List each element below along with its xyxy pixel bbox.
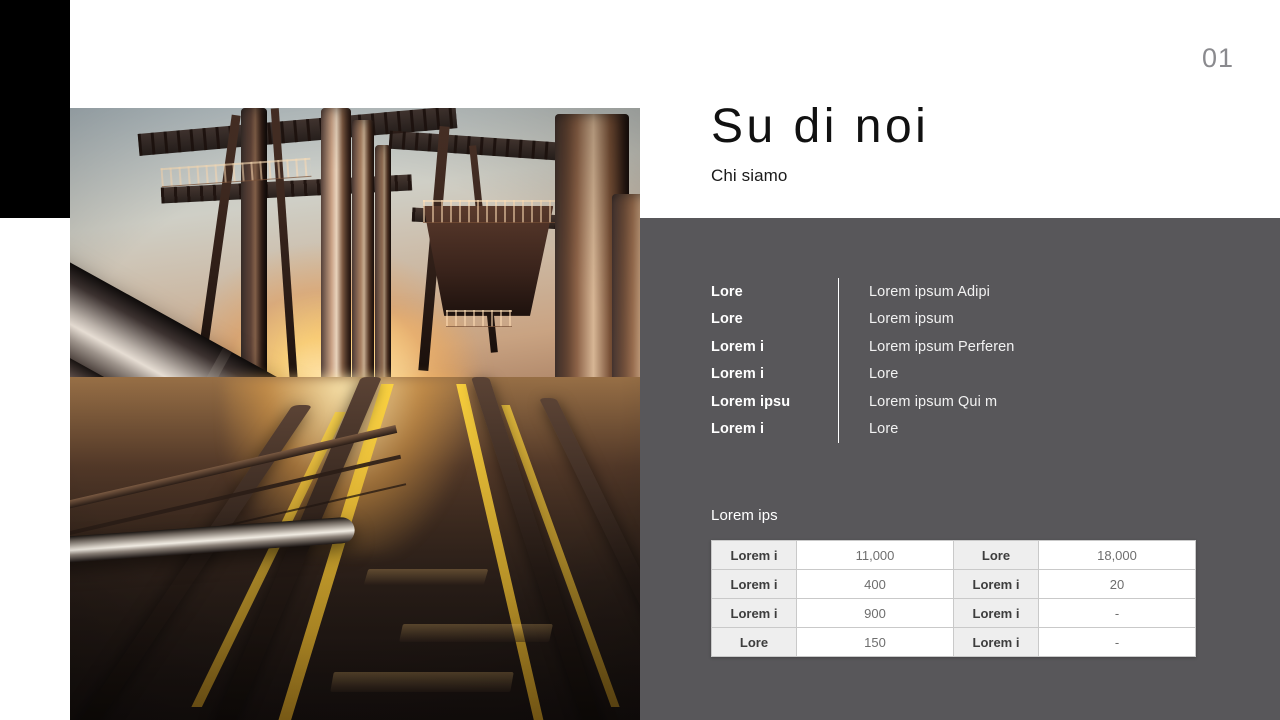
definition-list: Lore Lorem ipsum Adipi Lore Lorem ipsum … (711, 278, 1131, 443)
def-term: Lore (711, 311, 838, 327)
table-row: Lorem i 900 Lorem i - (712, 599, 1196, 628)
floor-plate-2 (399, 624, 553, 642)
def-term: Lore (711, 284, 838, 300)
slide-header: 01 Su di noi Chi siamo (640, 0, 1280, 218)
table-cell-key: Lorem i (954, 599, 1039, 628)
page-title: Su di noi (711, 103, 929, 151)
table-cell-key: Lore (954, 541, 1039, 570)
decorative-black-block (0, 0, 70, 218)
table-row: Lore 150 Lorem i - (712, 628, 1196, 657)
def-description: Lorem ipsum (839, 311, 954, 327)
def-description: Lorem ipsum Perferen (839, 339, 1014, 355)
table-cell-value: - (1039, 599, 1196, 628)
platform-railing-1 (423, 200, 555, 223)
page-subtitle: Chi siamo (711, 166, 787, 186)
photo-scene (70, 108, 640, 720)
industrial-refinery-photo (70, 108, 640, 720)
table-cell-value: 18,000 (1039, 541, 1196, 570)
table-cell-key: Lorem i (954, 628, 1039, 657)
list-item: Lore Lorem ipsum Adipi (711, 278, 1131, 306)
def-term: Lorem ipsu (711, 394, 838, 410)
list-item: Lorem ipsu Lorem ipsum Qui m (711, 388, 1131, 416)
table-cell-key: Lorem i (954, 570, 1039, 599)
list-item: Lorem i Lore (711, 416, 1131, 444)
table-cell-key: Lorem i (712, 570, 797, 599)
floor-plate-1 (364, 569, 489, 585)
floor-rail-2 (471, 377, 603, 720)
table-cell-value: - (1039, 628, 1196, 657)
def-term: Lorem i (711, 366, 838, 382)
table-cell-value: 150 (797, 628, 954, 657)
table-cell-key: Lorem i (712, 541, 797, 570)
floor-plate-3 (330, 672, 514, 692)
list-item: Lorem i Lore (711, 361, 1131, 389)
table-caption: Lorem ips (711, 507, 778, 524)
def-term: Lorem i (711, 421, 838, 437)
table-cell-key: Lore (712, 628, 797, 657)
list-item: Lorem i Lorem ipsum Perferen (711, 333, 1131, 361)
def-description: Lorem ipsum Adipi (839, 284, 990, 300)
floor-rail-4 (539, 398, 640, 720)
table-cell-value: 400 (797, 570, 954, 599)
table-row: Lorem i 11,000 Lore 18,000 (712, 541, 1196, 570)
slide-number: 01 (1202, 43, 1234, 74)
data-table: Lorem i 11,000 Lore 18,000 Lorem i 400 L… (711, 540, 1196, 657)
walkway-floor (70, 377, 640, 720)
def-description: Lorem ipsum Qui m (839, 394, 997, 410)
def-description: Lore (839, 421, 898, 437)
def-description: Lore (839, 366, 898, 382)
table-cell-value: 900 (797, 599, 954, 628)
list-item: Lore Lorem ipsum (711, 306, 1131, 334)
table-row: Lorem i 400 Lorem i 20 (712, 570, 1196, 599)
platform-railing-3 (446, 310, 512, 327)
table-cell-key: Lorem i (712, 599, 797, 628)
table-cell-value: 20 (1039, 570, 1196, 599)
table-cell-value: 11,000 (797, 541, 954, 570)
def-term: Lorem i (711, 339, 838, 355)
